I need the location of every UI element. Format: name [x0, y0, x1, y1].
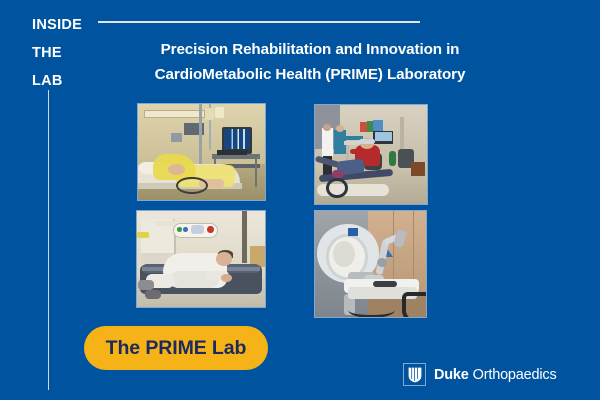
slide-canvas: INSIDE THE LAB Precision Rehabilitation …	[0, 0, 600, 400]
photo-mri	[314, 210, 427, 318]
photo-icu	[137, 103, 266, 201]
title-line-2: CardioMetabolic Health (PRIME) Laborator…	[100, 62, 520, 87]
prime-lab-badge-label: The PRIME Lab	[106, 337, 247, 360]
photo-dexa	[136, 210, 266, 308]
duke-shield-icon	[403, 363, 426, 386]
eyebrow-label: INSIDE THE LAB	[32, 11, 98, 95]
photo-bike	[314, 104, 428, 205]
orthopaedics-word: Orthopaedics	[473, 367, 557, 383]
title-line-1: Precision Rehabilitation and Innovation …	[100, 37, 520, 62]
eyebrow-line-3: LAB	[32, 67, 98, 95]
vertical-rule	[48, 90, 49, 390]
duke-wordmark: DukeOrthopaedics	[434, 367, 557, 383]
page-title: Precision Rehabilitation and Innovation …	[100, 37, 520, 87]
horizontal-rule	[98, 21, 420, 23]
duke-orthopaedics-logo: DukeOrthopaedics	[403, 363, 557, 386]
eyebrow-line-2: THE	[32, 39, 98, 67]
duke-word: Duke	[434, 367, 469, 383]
prime-lab-badge: The PRIME Lab	[84, 326, 268, 370]
eyebrow-line-1: INSIDE	[32, 11, 98, 39]
